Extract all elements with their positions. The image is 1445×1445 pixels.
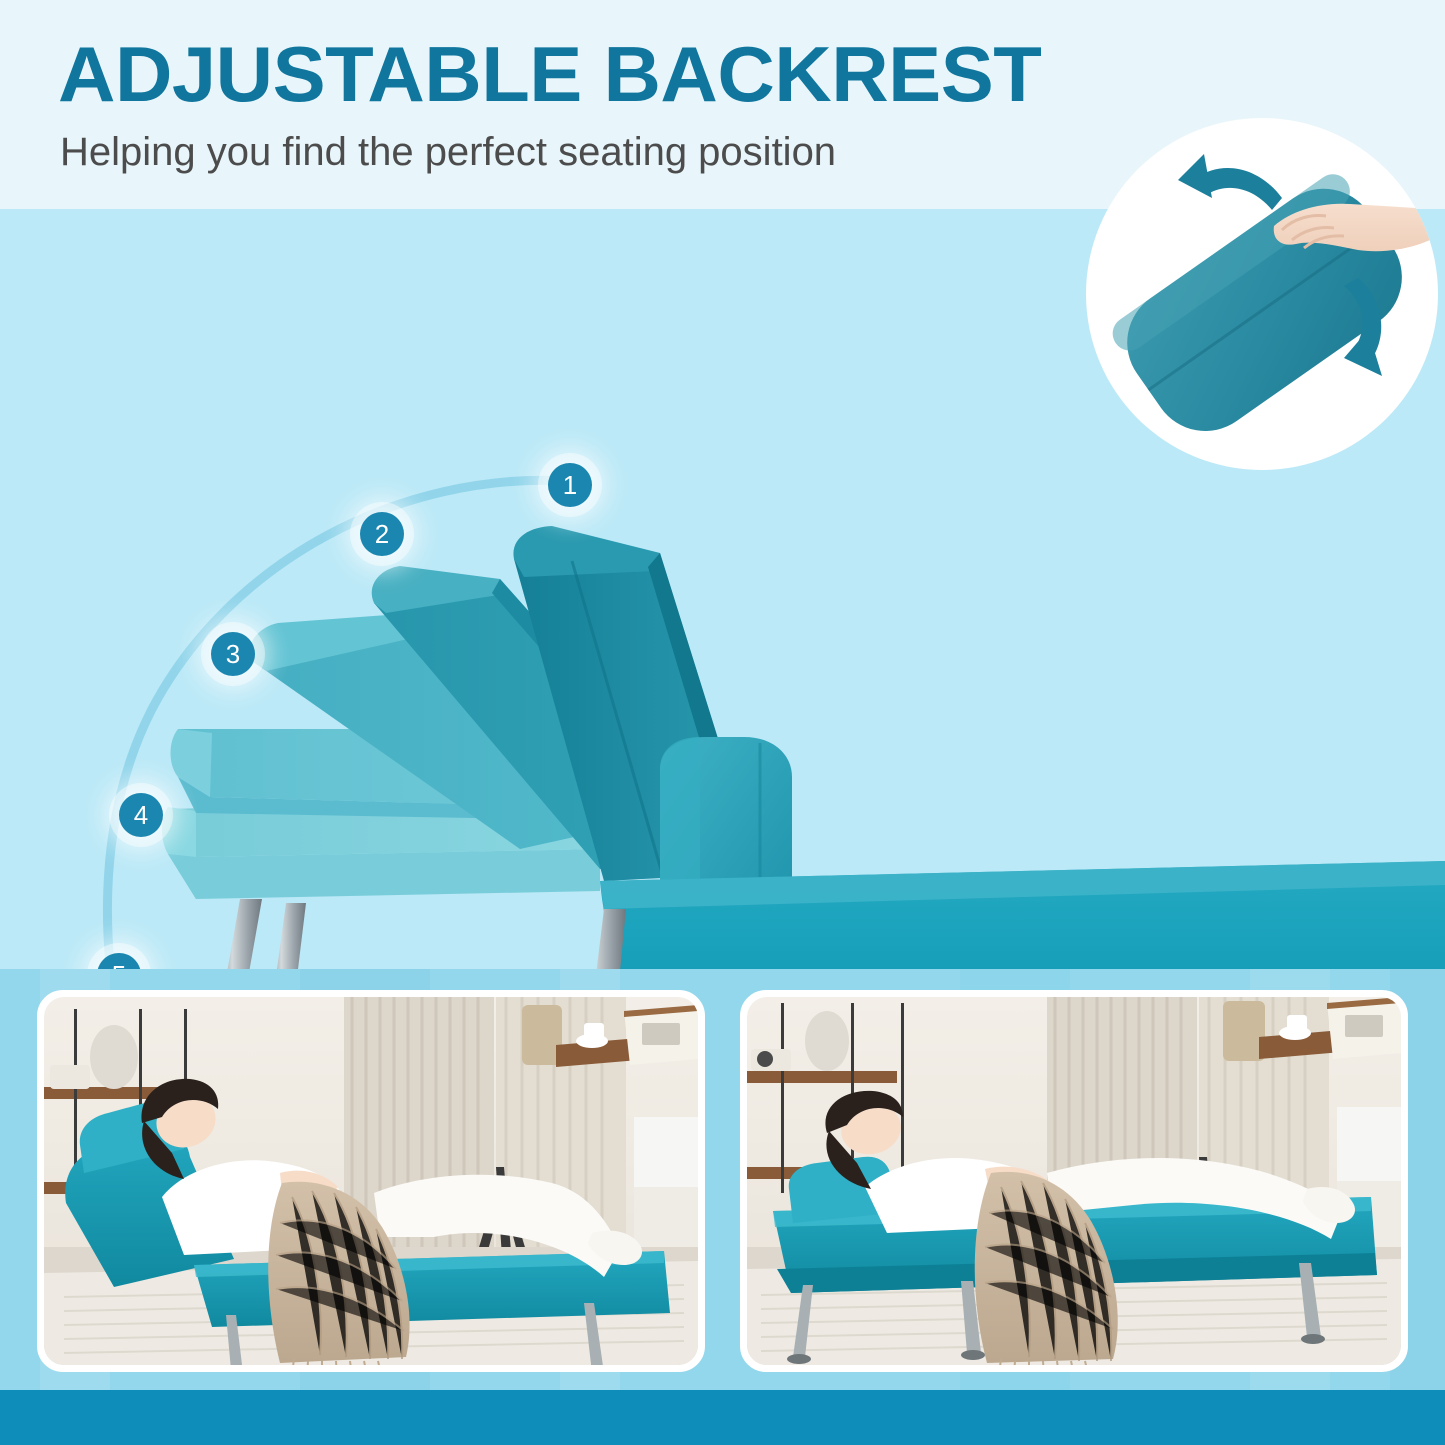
level-marker-2: 2	[360, 512, 404, 556]
level-marker-4: 4	[119, 793, 163, 837]
page-title: ADJUSTABLE BACKREST	[58, 32, 1041, 116]
hand-icon	[1274, 174, 1438, 251]
lifestyle-photo-flat-bed	[740, 990, 1408, 1372]
adjustment-detail-inset	[1086, 118, 1438, 470]
lifestyle-photo-band	[0, 969, 1445, 1390]
infographic-page: ADJUSTABLE BACKREST Helping you find the…	[0, 0, 1445, 1445]
page-subtitle: Helping you find the perfect seating pos…	[60, 128, 836, 176]
rotate-up-arrow	[1178, 154, 1282, 210]
lifestyle-photo-reclined	[37, 990, 705, 1372]
level-marker-1: 1	[548, 463, 592, 507]
footer-accent-bar	[0, 1390, 1445, 1445]
level-marker-3: 3	[211, 632, 255, 676]
